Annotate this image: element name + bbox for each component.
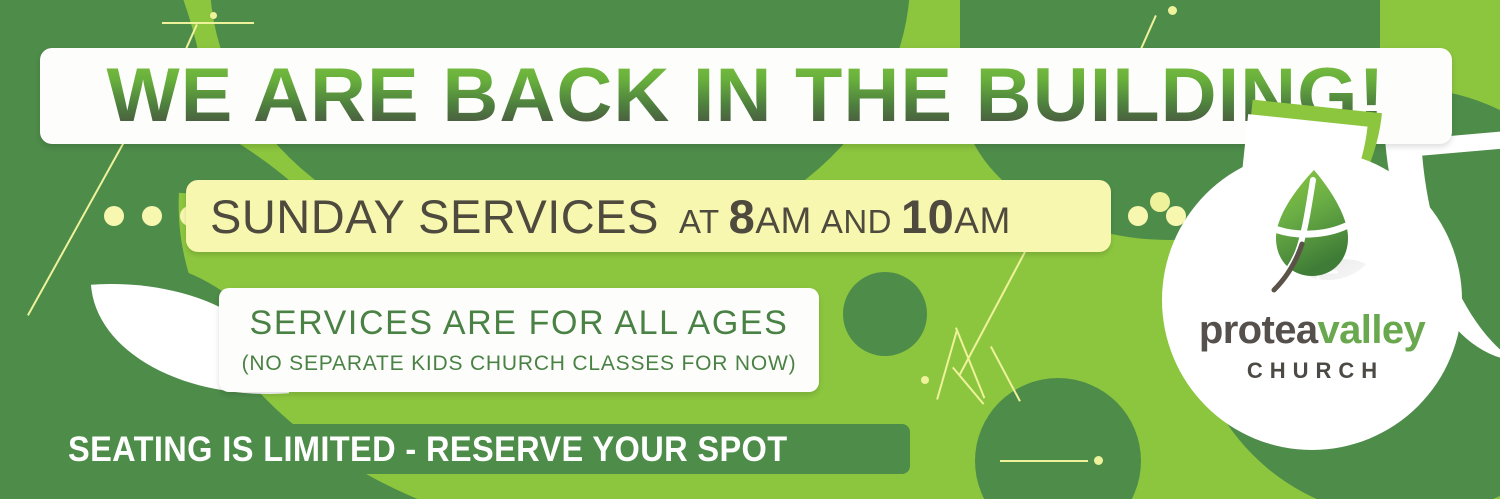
decor-line-zigzag-c — [990, 346, 1021, 402]
headline-text: WE ARE BACK IN THE BUILDING! — [107, 58, 1386, 134]
service-time-1-number: 8 — [729, 193, 756, 240]
service-and-word: AND — [821, 205, 892, 238]
decor-dot-bottom — [1094, 456, 1103, 465]
logo-subtitle-church: CHURCH — [1240, 358, 1384, 384]
service-label: SUNDAY SERVICES — [210, 193, 659, 240]
seating-notice-bar: SEATING IS LIMITED - RESERVE YOUR SPOT — [46, 424, 910, 474]
decor-dot-top-right — [1168, 6, 1177, 15]
logo-word-protea: protea — [1199, 308, 1318, 352]
service-times-bar: SUNDAY SERVICES AT 8 AM AND 10 AM — [186, 180, 1111, 252]
decor-dot-zigzag — [921, 376, 929, 384]
decor-line-horizontal-top — [162, 22, 254, 24]
service-time-1-ampm: AM — [755, 202, 812, 239]
decor-dot-logo — [1150, 192, 1170, 212]
headline-banner: WE ARE BACK IN THE BUILDING! — [40, 48, 1452, 144]
service-at-word: AT — [679, 205, 720, 238]
logo-word-valley: valley — [1318, 308, 1426, 352]
protea-valley-church-logo: proteavalley CHURCH — [1162, 150, 1462, 450]
decor-circle-small — [843, 272, 927, 356]
leaf-cross-icon — [1252, 164, 1372, 314]
service-times-text: SUNDAY SERVICES AT 8 AM AND 10 AM — [210, 193, 1011, 240]
decor-line-horizontal-bottom — [1000, 460, 1088, 462]
decor-circle-large — [975, 378, 1141, 499]
decor-dot — [1128, 206, 1148, 226]
decor-line-zigzag-b — [936, 330, 958, 400]
decor-dot — [104, 206, 124, 226]
all-ages-info-box: SERVICES ARE FOR ALL AGES (NO SEPARATE K… — [219, 288, 819, 392]
church-announcement-banner: WE ARE BACK IN THE BUILDING! SUNDAY SERV… — [0, 0, 1500, 499]
service-time-2-number: 10 — [901, 193, 954, 240]
service-time-2-ampm: AM — [954, 202, 1011, 239]
all-ages-headline: SERVICES ARE FOR ALL AGES — [250, 306, 789, 340]
logo-wordmark: proteavalley — [1199, 310, 1425, 350]
decor-dot — [142, 206, 162, 226]
decor-dot-top — [210, 12, 217, 19]
all-ages-subtext: (NO SEPARATE KIDS CHURCH CLASSES FOR NOW… — [242, 353, 797, 374]
seating-notice-text: SEATING IS LIMITED - RESERVE YOUR SPOT — [68, 432, 788, 467]
